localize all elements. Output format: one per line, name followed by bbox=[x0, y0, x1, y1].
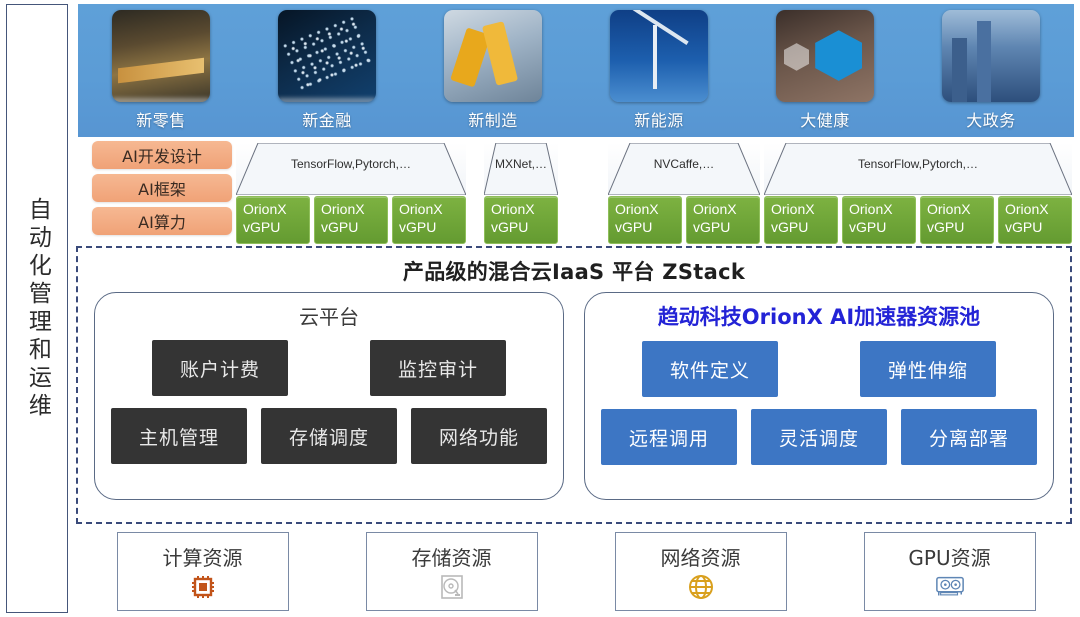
resource-icon-wrap bbox=[686, 573, 716, 601]
resource-card-3[interactable]: 网络资源 bbox=[615, 532, 787, 611]
resource-icon-wrap bbox=[437, 573, 467, 601]
vgpu-row: OrionXvGPUOrionXvGPU bbox=[608, 196, 760, 244]
framework-label: MXNet,… bbox=[495, 157, 547, 171]
healthcare-photo bbox=[776, 10, 874, 102]
vgpu-row: OrionXvGPU bbox=[484, 196, 558, 244]
sidebar-automation-management: 自动化管理和运维 bbox=[6, 4, 68, 613]
resource-label: 存储资源 bbox=[412, 542, 492, 571]
vgpu-line1: OrionX bbox=[615, 201, 681, 219]
sidebar-label: 自动化管理和运维 bbox=[25, 197, 50, 421]
iaas-panel-1: 云平台账户计费监控审计主机管理存储调度网络功能 bbox=[94, 292, 564, 500]
vgpu-line2: vGPU bbox=[399, 219, 465, 237]
iaas-panel-2: 趋动科技OrionX AI加速器资源池软件定义弹性伸缩远程调用灵活调度分离部署 bbox=[584, 292, 1054, 500]
feature-chip[interactable]: 主机管理 bbox=[111, 408, 247, 464]
industry-item-5: 大健康 bbox=[756, 10, 894, 131]
panel-title: 云平台 bbox=[95, 301, 563, 330]
vgpu-line1: OrionX bbox=[927, 201, 993, 219]
framework-group-3: NVCaffe,…OrionXvGPUOrionXvGPU bbox=[608, 143, 760, 244]
globe-icon bbox=[687, 573, 715, 601]
vgpu-line1: OrionX bbox=[321, 201, 387, 219]
vgpu-line1: OrionX bbox=[243, 201, 309, 219]
industry-label: 新金融 bbox=[302, 107, 352, 131]
iaas-container: 产品级的混合云IaaS 平台 ZStack 云平台账户计费监控审计主机管理存储调… bbox=[76, 246, 1072, 524]
cpu-chip-icon bbox=[189, 574, 217, 600]
industry-item-3: 新制造 bbox=[424, 10, 562, 131]
hard-disk-icon bbox=[439, 574, 465, 600]
chip-row: 远程调用灵活调度分离部署 bbox=[585, 409, 1053, 465]
chip-row: 主机管理存储调度网络功能 bbox=[95, 408, 563, 464]
vgpu-line2: vGPU bbox=[693, 219, 759, 237]
vgpu-box: OrionXvGPU bbox=[998, 196, 1072, 244]
resource-icon-wrap bbox=[188, 573, 218, 601]
industry-item-1: 新零售 bbox=[92, 10, 230, 131]
feature-chip[interactable]: 弹性伸缩 bbox=[860, 341, 996, 397]
resource-row: 计算资源存储资源网络资源GPU资源 bbox=[78, 530, 1074, 613]
iaas-panels: 云平台账户计费监控审计主机管理存储调度网络功能趋动科技OrionX AI加速器资… bbox=[78, 286, 1070, 500]
diagram-root: 自动化管理和运维 新零售新金融新制造新能源大健康大政务 AI开发设计AI框架AI… bbox=[0, 0, 1080, 617]
vgpu-row: OrionXvGPUOrionXvGPUOrionXvGPU bbox=[236, 196, 466, 244]
resource-label: 网络资源 bbox=[661, 542, 741, 571]
vgpu-line1: OrionX bbox=[771, 201, 837, 219]
framework-layer: TensorFlow,Pytorch,…OrionXvGPUOrionXvGPU… bbox=[236, 140, 1070, 244]
vgpu-line2: vGPU bbox=[615, 219, 681, 237]
iaas-title: 产品级的混合云IaaS 平台 ZStack bbox=[78, 256, 1070, 286]
vgpu-box: OrionXvGPU bbox=[686, 196, 760, 244]
feature-chip[interactable]: 账户计费 bbox=[152, 340, 288, 396]
framework-trapezoid: MXNet,… bbox=[484, 143, 558, 195]
panel-title: 趋动科技OrionX AI加速器资源池 bbox=[585, 301, 1053, 331]
vgpu-box: OrionXvGPU bbox=[236, 196, 310, 244]
vgpu-row: OrionXvGPUOrionXvGPUOrionXvGPUOrionXvGPU bbox=[764, 196, 1072, 244]
industry-label: 大健康 bbox=[800, 107, 850, 131]
resource-card-2[interactable]: 存储资源 bbox=[366, 532, 538, 611]
ai-pill-3: AI算力 bbox=[92, 207, 232, 235]
industry-label: 新零售 bbox=[136, 107, 186, 131]
framework-label: TensorFlow,Pytorch,… bbox=[858, 157, 978, 171]
industry-label: 新能源 bbox=[634, 107, 684, 131]
resource-label: 计算资源 bbox=[163, 542, 243, 571]
chip-row: 账户计费监控审计 bbox=[95, 340, 563, 396]
government-photo bbox=[942, 10, 1040, 102]
framework-label: TensorFlow,Pytorch,… bbox=[291, 157, 411, 171]
vgpu-line2: vGPU bbox=[243, 219, 309, 237]
resource-label: GPU资源 bbox=[908, 542, 990, 571]
energy-photo bbox=[610, 10, 708, 102]
feature-chip[interactable]: 网络功能 bbox=[411, 408, 547, 464]
industry-item-6: 大政务 bbox=[922, 10, 1060, 131]
feature-chip[interactable]: 灵活调度 bbox=[751, 409, 887, 465]
framework-trapezoid: TensorFlow,Pytorch,… bbox=[236, 143, 466, 195]
vgpu-box: OrionXvGPU bbox=[842, 196, 916, 244]
manufacturing-photo bbox=[444, 10, 542, 102]
vgpu-line1: OrionX bbox=[1005, 201, 1071, 219]
vgpu-box: OrionXvGPU bbox=[314, 196, 388, 244]
resource-icon-wrap bbox=[935, 573, 965, 601]
framework-group-4: TensorFlow,Pytorch,…OrionXvGPUOrionXvGPU… bbox=[764, 143, 1072, 244]
graphics-card-icon bbox=[935, 575, 965, 599]
vgpu-box: OrionXvGPU bbox=[484, 196, 558, 244]
vgpu-line1: OrionX bbox=[849, 201, 915, 219]
resource-card-1[interactable]: 计算资源 bbox=[117, 532, 289, 611]
vgpu-line2: vGPU bbox=[849, 219, 915, 237]
vgpu-line2: vGPU bbox=[771, 219, 837, 237]
chip-row: 软件定义弹性伸缩 bbox=[585, 341, 1053, 397]
framework-trapezoid: TensorFlow,Pytorch,… bbox=[764, 143, 1072, 195]
retail-photo bbox=[112, 10, 210, 102]
ai-stack-pills: AI开发设计AI框架AI算力 bbox=[92, 141, 232, 240]
feature-chip[interactable]: 软件定义 bbox=[642, 341, 778, 397]
vgpu-box: OrionXvGPU bbox=[764, 196, 838, 244]
vgpu-line1: OrionX bbox=[491, 201, 557, 219]
ai-pill-2: AI框架 bbox=[92, 174, 232, 202]
vgpu-line1: OrionX bbox=[399, 201, 465, 219]
resource-card-4[interactable]: GPU资源 bbox=[864, 532, 1036, 611]
feature-chip[interactable]: 存储调度 bbox=[261, 408, 397, 464]
vgpu-box: OrionXvGPU bbox=[392, 196, 466, 244]
vgpu-line2: vGPU bbox=[321, 219, 387, 237]
vgpu-line2: vGPU bbox=[491, 219, 557, 237]
vgpu-box: OrionXvGPU bbox=[920, 196, 994, 244]
framework-group-1: TensorFlow,Pytorch,…OrionXvGPUOrionXvGPU… bbox=[236, 143, 466, 244]
industry-item-4: 新能源 bbox=[590, 10, 728, 131]
ai-pill-1: AI开发设计 bbox=[92, 141, 232, 169]
finance-photo bbox=[278, 10, 376, 102]
vgpu-line2: vGPU bbox=[927, 219, 993, 237]
industry-band: 新零售新金融新制造新能源大健康大政务 bbox=[78, 4, 1074, 137]
feature-chip[interactable]: 监控审计 bbox=[370, 340, 506, 396]
industry-label: 新制造 bbox=[468, 107, 518, 131]
vgpu-box: OrionXvGPU bbox=[608, 196, 682, 244]
feature-chip[interactable]: 远程调用 bbox=[601, 409, 737, 465]
framework-group-2: MXNet,…OrionXvGPU bbox=[484, 143, 558, 244]
industry-item-2: 新金融 bbox=[258, 10, 396, 131]
industry-label: 大政务 bbox=[966, 107, 1016, 131]
framework-trapezoid: NVCaffe,… bbox=[608, 143, 760, 195]
framework-label: NVCaffe,… bbox=[654, 157, 714, 171]
feature-chip[interactable]: 分离部署 bbox=[901, 409, 1037, 465]
vgpu-line2: vGPU bbox=[1005, 219, 1071, 237]
vgpu-line1: OrionX bbox=[693, 201, 759, 219]
